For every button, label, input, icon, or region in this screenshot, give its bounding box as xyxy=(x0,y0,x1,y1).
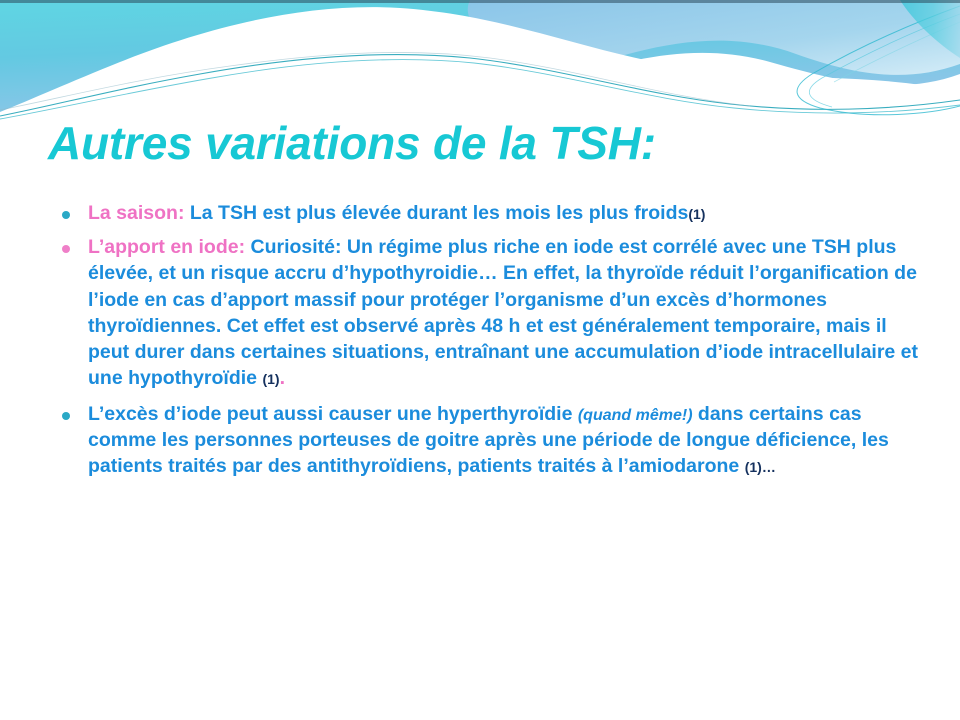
decorative-wave-banner xyxy=(0,0,960,120)
bullet-2-body: Curiosité: Un régime plus riche en iode … xyxy=(88,236,918,389)
bullet-3-text: L’excès d’iode peut aussi causer une hyp… xyxy=(88,401,928,480)
page-title: Autres variations de la TSH: xyxy=(48,118,928,170)
bullet-2-text: L’apport en iode: Curiosité: Un régime p… xyxy=(88,234,928,391)
bullet-3-trailing-punctuation: … xyxy=(762,459,776,475)
bullet-2-lead: L’apport en iode xyxy=(88,236,239,258)
list-item: L’excès d’iode peut aussi causer une hyp… xyxy=(52,401,928,480)
list-item: La saison: La TSH est plus élevée durant… xyxy=(52,200,928,226)
bullet-1-text: La saison: La TSH est plus élevée durant… xyxy=(88,200,928,226)
bullet-dot-icon xyxy=(62,211,70,219)
list-item: L’apport en iode: Curiosité: Un régime p… xyxy=(52,234,928,391)
slide-body: La saison: La TSH est plus élevée durant… xyxy=(52,200,928,483)
bullet-3-body-before: L’excès d’iode peut aussi causer une hyp… xyxy=(88,403,578,425)
bullet-dot-icon xyxy=(62,245,70,253)
banner-top-edge xyxy=(0,0,960,3)
bullet-3-aside: (quand même!) xyxy=(578,407,693,424)
bullet-1-body: La TSH est plus élevée durant les mois l… xyxy=(184,202,688,224)
wave-banner-graphic xyxy=(0,0,960,120)
bullet-dot-icon xyxy=(62,412,70,420)
bullet-2-reference: (1) xyxy=(262,371,279,387)
bullet-1-lead: La saison xyxy=(88,202,178,224)
bullet-1-reference: (1) xyxy=(688,206,705,222)
slide: Autres variations de la TSH: La saison: … xyxy=(0,0,960,720)
bullet-2-trailing-punctuation: . xyxy=(280,367,285,389)
bullet-3-reference: (1) xyxy=(745,459,762,475)
